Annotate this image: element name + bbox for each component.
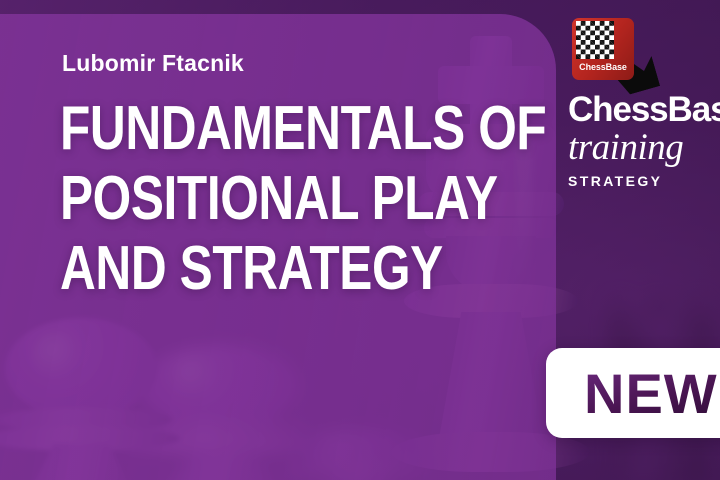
title-line-2: POSITIONAL PLAY <box>60 164 476 234</box>
poster-title: FUNDAMENTALS OF POSITIONAL PLAY AND STRA… <box>60 94 476 304</box>
checkerboard-icon <box>576 21 614 59</box>
title-line-3: AND STRATEGY <box>60 234 476 304</box>
chessbase-logo-icon: ChessBase <box>572 12 644 86</box>
title-line-1: FUNDAMENTALS OF <box>60 94 476 164</box>
brand-subtitle: training <box>568 129 718 167</box>
author-name: Lubomir Ftacnik <box>62 50 244 77</box>
brand-category: STRATEGY <box>568 173 718 189</box>
logo-red-tile: ChessBase <box>572 18 634 80</box>
brand-name: ChessBase <box>568 92 718 128</box>
logo-wordmark: ChessBase <box>572 62 634 72</box>
chessbase-brand-lockup: ChessBase ChessBase training STRATEGY <box>568 12 718 189</box>
course-cover-poster: Lubomir Ftacnik FUNDAMENTALS OF POSITION… <box>0 0 720 480</box>
new-badge-label: NEW <box>584 361 718 426</box>
new-badge: NEW <box>546 348 720 438</box>
